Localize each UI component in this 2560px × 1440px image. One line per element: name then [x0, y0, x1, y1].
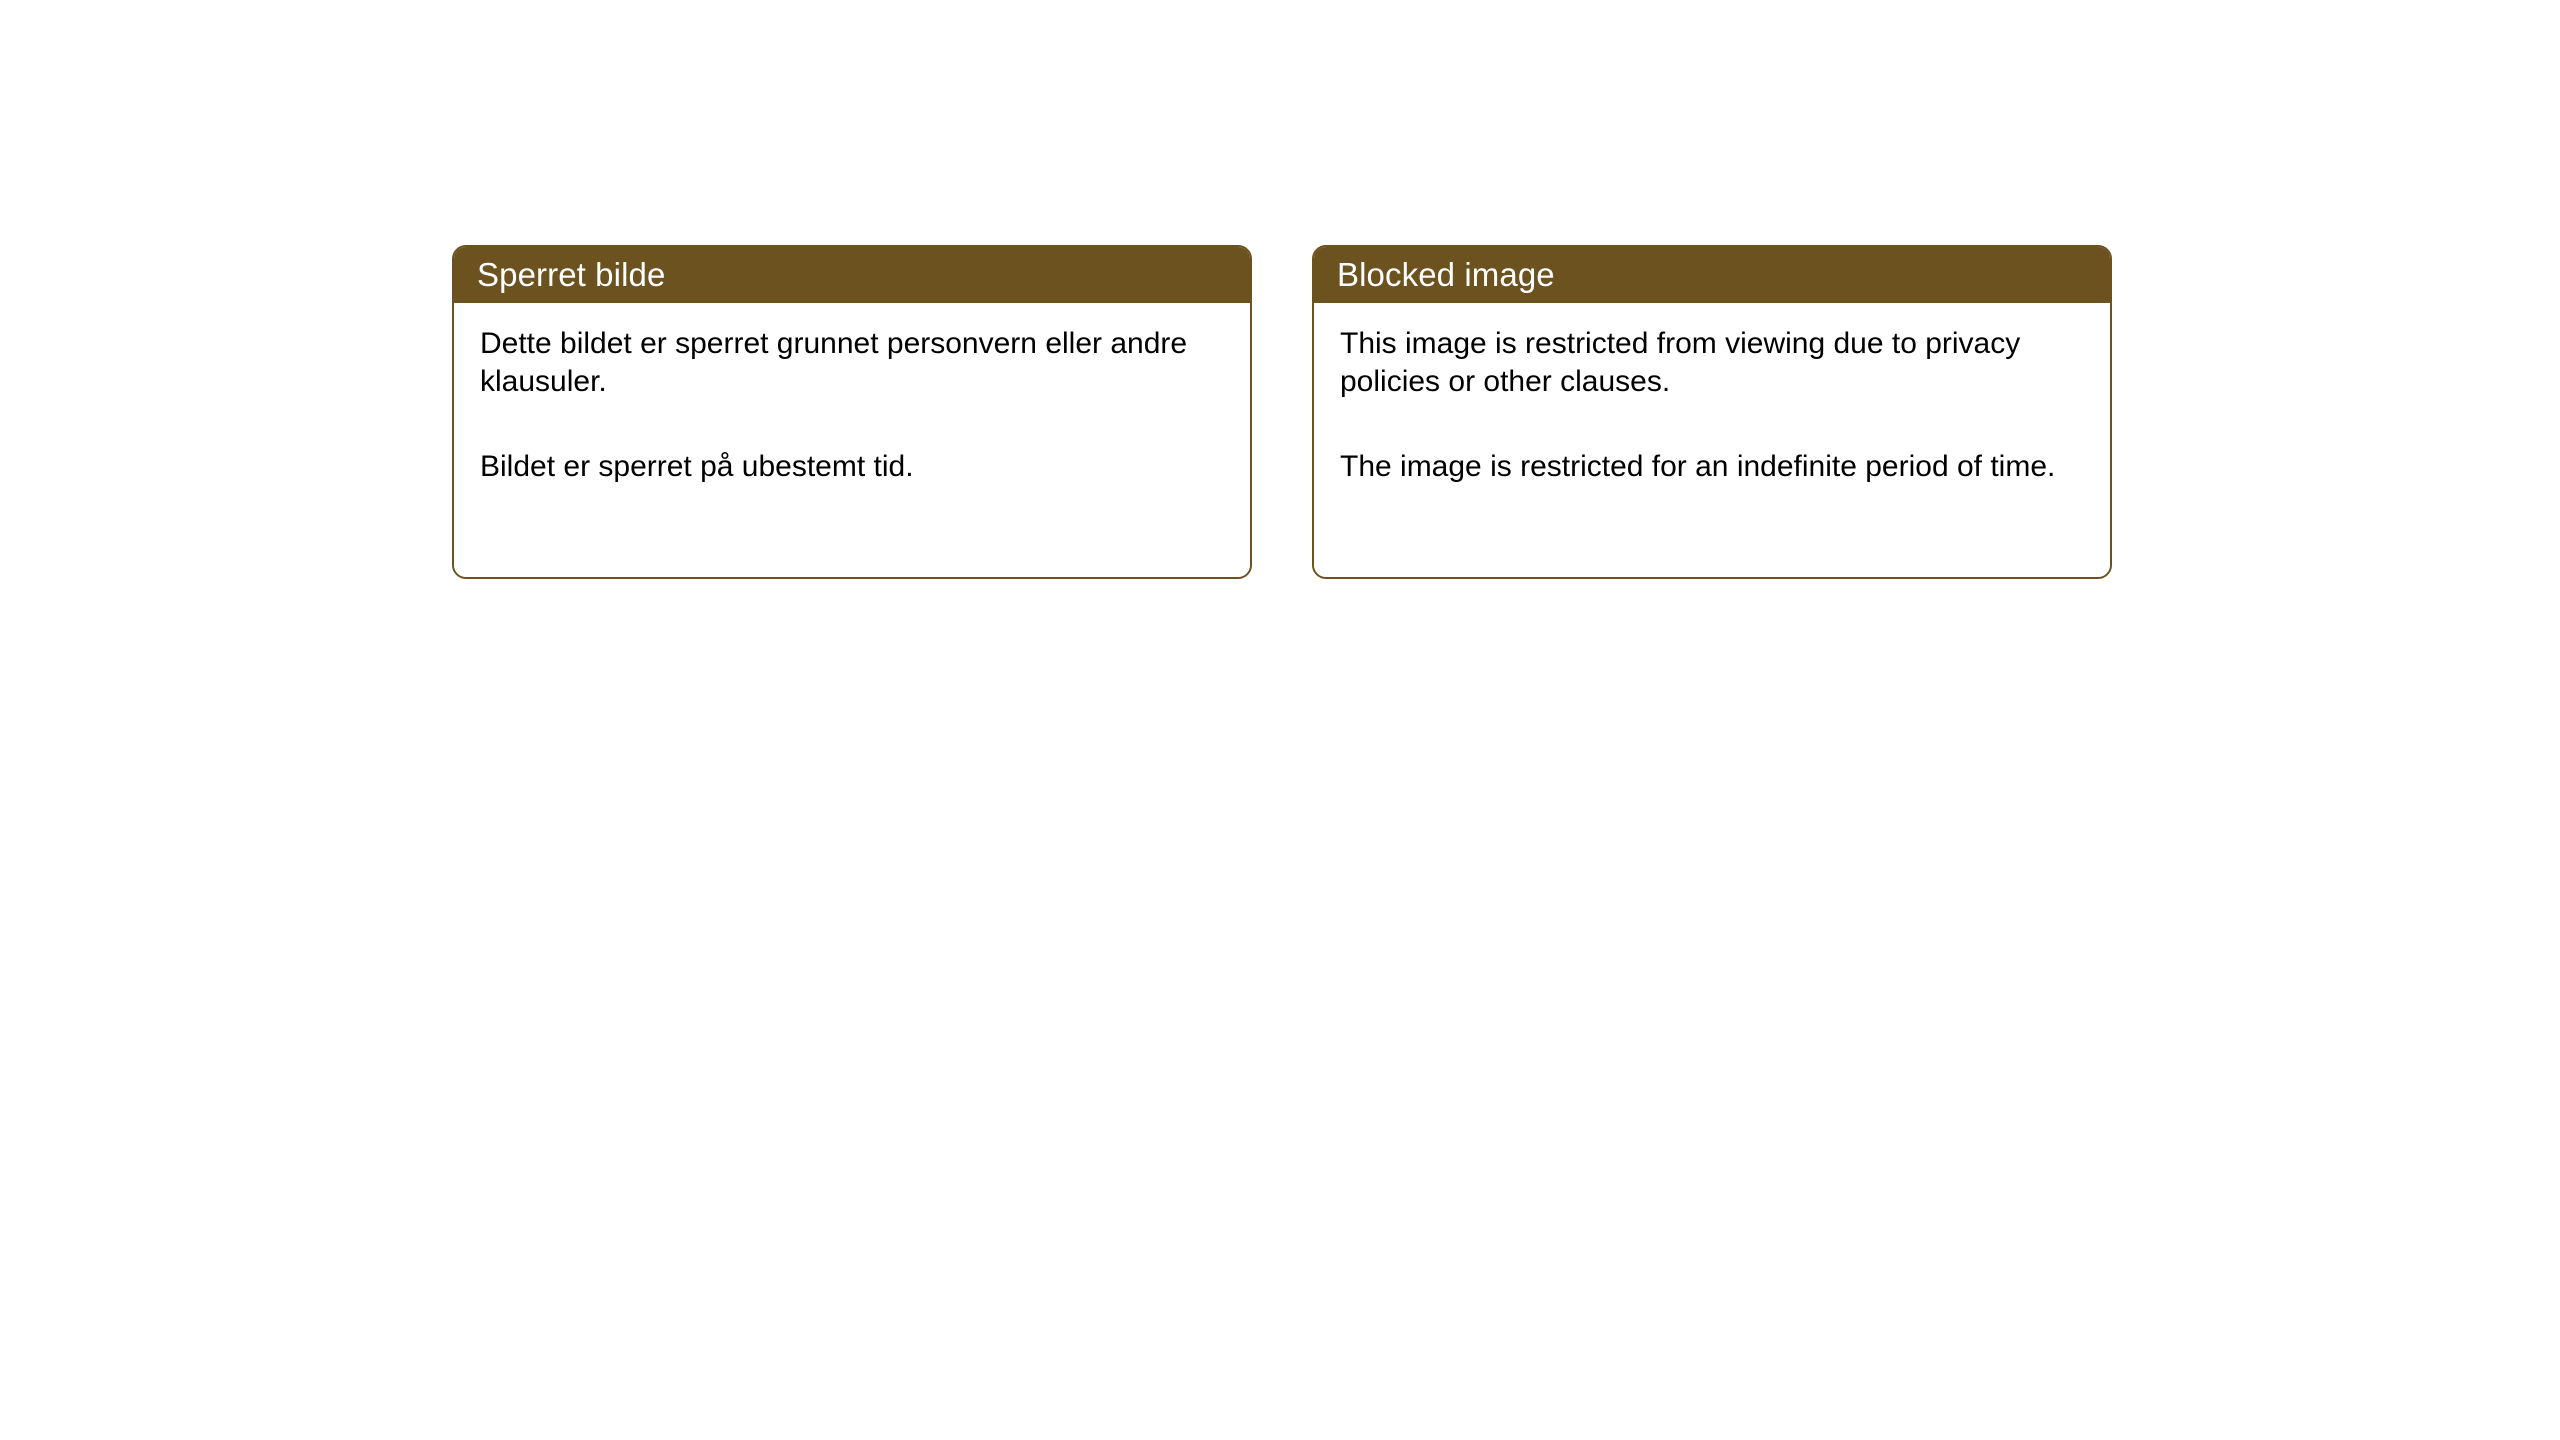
notice-title-no: Sperret bilde — [477, 258, 665, 291]
notice-body-no: Dette bildet er sperret grunnet personve… — [454, 303, 1250, 577]
notice-header-en: Blocked image — [1313, 246, 2111, 303]
blocked-image-notice-card-no: Sperret bilde Dette bildet er sperret gr… — [452, 245, 1252, 579]
page-canvas: Sperret bilde Dette bildet er sperret gr… — [0, 0, 2560, 1440]
notice-header-no: Sperret bilde — [453, 246, 1251, 303]
blocked-image-notice-card-en: Blocked image This image is restricted f… — [1312, 245, 2112, 579]
notice-title-en: Blocked image — [1337, 258, 1555, 291]
blocked-image-notice-group: Sperret bilde Dette bildet er sperret gr… — [452, 245, 2112, 579]
notice-paragraph-no-2: Bildet er sperret på ubestemt tid. — [480, 448, 1220, 486]
notice-body-en: This image is restricted from viewing du… — [1314, 303, 2110, 577]
notice-paragraph-no-1: Dette bildet er sperret grunnet personve… — [480, 325, 1220, 402]
notice-paragraph-en-2: The image is restricted for an indefinit… — [1340, 448, 2080, 486]
notice-paragraph-en-1: This image is restricted from viewing du… — [1340, 325, 2080, 402]
